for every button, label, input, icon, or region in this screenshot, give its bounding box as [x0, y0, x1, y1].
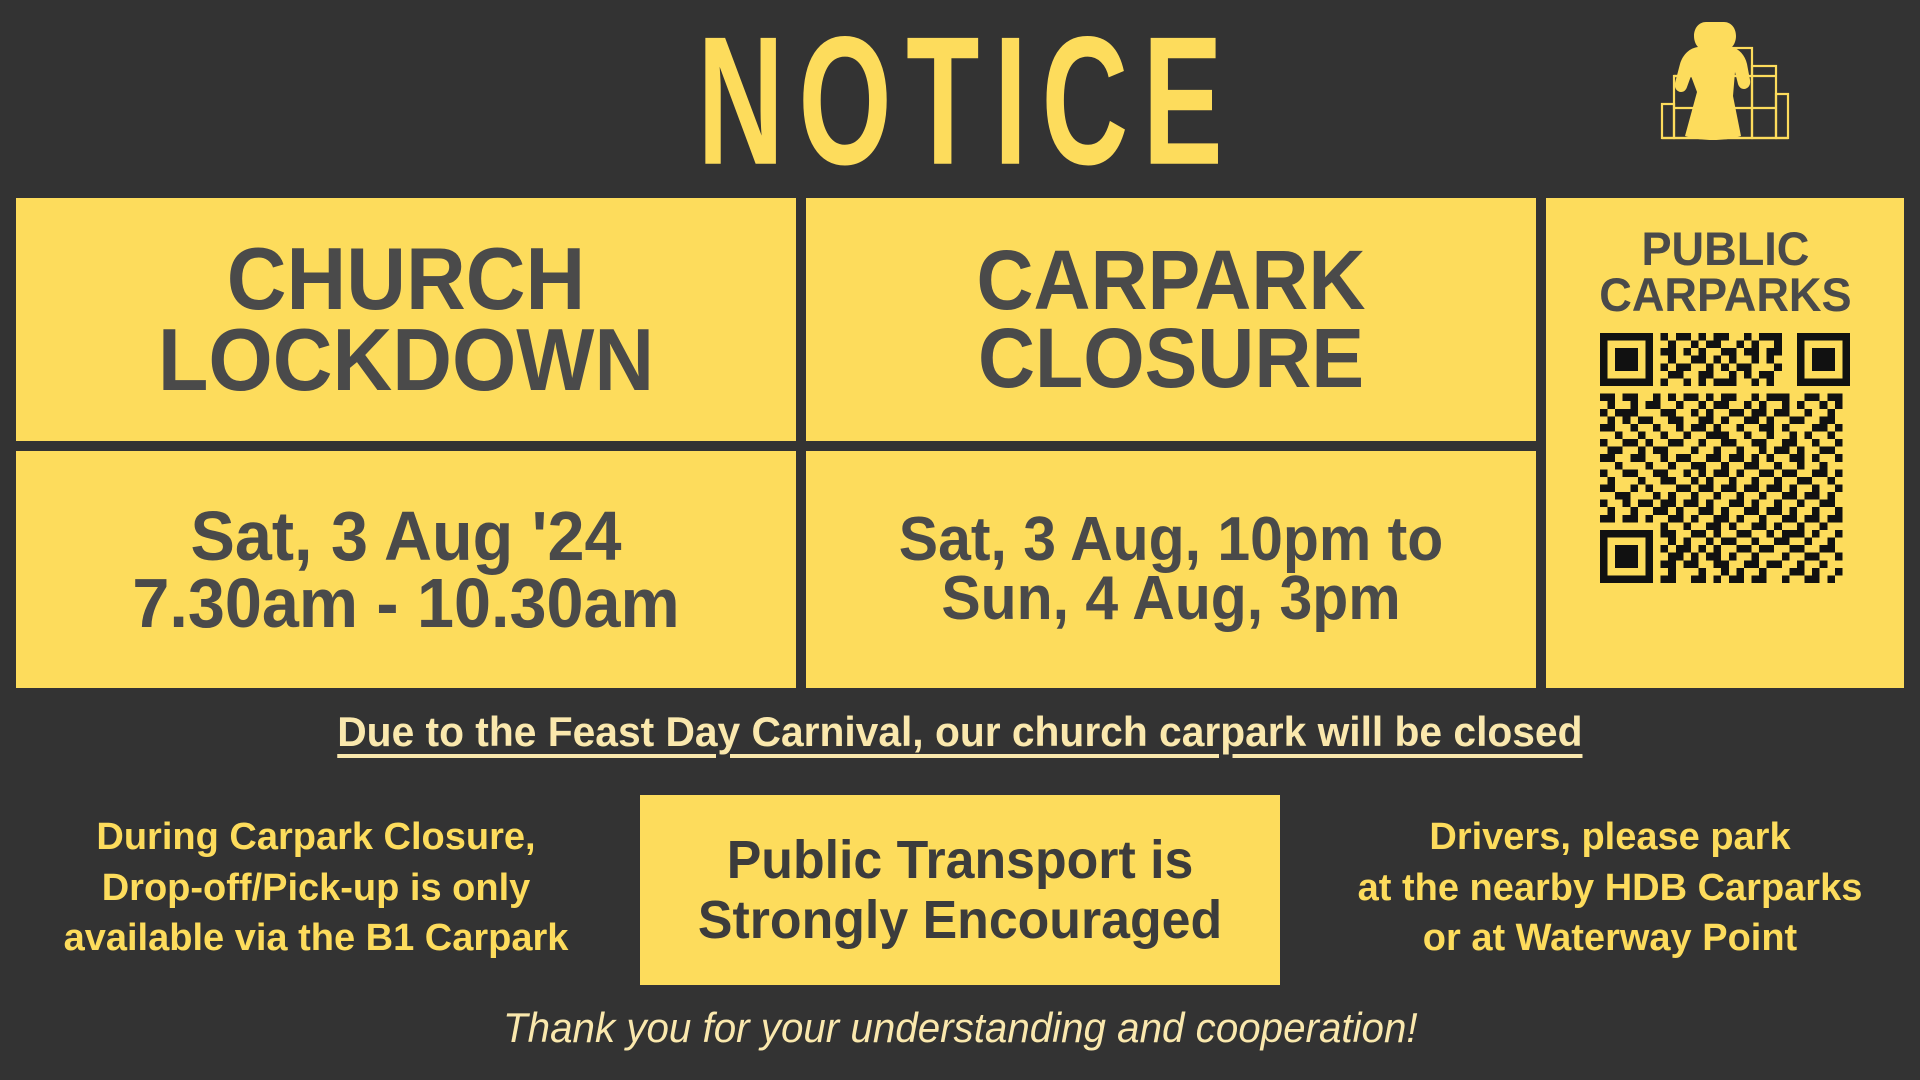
panel-carpark-closure: CARPARK CLOSURE — [806, 198, 1536, 441]
carpark-closure-heading: CARPARK CLOSURE — [828, 242, 1514, 397]
public-transport-callout: Public Transport is Strongly Encouraged — [640, 795, 1280, 985]
closure-reason-text: Due to the Feast Day Carnival, our churc… — [337, 708, 1582, 756]
carpark-closure-date: Sat, 3 Aug, 10pm to Sun, 4 Aug, 3pm — [824, 511, 1518, 629]
notice-poster: NOTICE CHURCH LOCKDOWN — [0, 0, 1920, 1080]
church-lockdown-heading: CHURCH LOCKDOWN — [39, 239, 772, 401]
dropoff-info-text: During Carpark Closure, Drop-off/Pick-up… — [26, 812, 606, 964]
drivers-parking-info-text: Drivers, please park at the nearby HDB C… — [1310, 812, 1910, 964]
thank-you-text: Thank you for your understanding and coo… — [503, 1004, 1418, 1052]
panel-church-lockdown: CHURCH LOCKDOWN — [16, 198, 796, 441]
closure-reason-line: Due to the Feast Day Carnival, our churc… — [0, 708, 1920, 756]
thank-you-line: Thank you for your understanding and coo… — [0, 1004, 1920, 1052]
panel-grid: CHURCH LOCKDOWN Sat, 3 Aug '24 7.30am - … — [16, 198, 1904, 688]
public-carparks-label: PUBLIC CARPARKS — [1599, 226, 1851, 317]
panel-public-carparks[interactable]: PUBLIC CARPARKS — [1546, 198, 1904, 688]
church-lockdown-date: Sat, 3 Aug '24 7.30am - 10.30am — [36, 503, 777, 636]
poster-header: NOTICE — [0, 0, 1920, 190]
church-figure-logo — [1650, 18, 1800, 148]
panel-church-lockdown-time: Sat, 3 Aug '24 7.30am - 10.30am — [16, 451, 796, 688]
page-title: NOTICE — [192, 0, 1728, 208]
panel-carpark-closure-time: Sat, 3 Aug, 10pm to Sun, 4 Aug, 3pm — [806, 451, 1536, 688]
public-transport-text: Public Transport is Strongly Encouraged — [698, 830, 1222, 951]
public-carparks-qr-code[interactable] — [1600, 333, 1850, 583]
